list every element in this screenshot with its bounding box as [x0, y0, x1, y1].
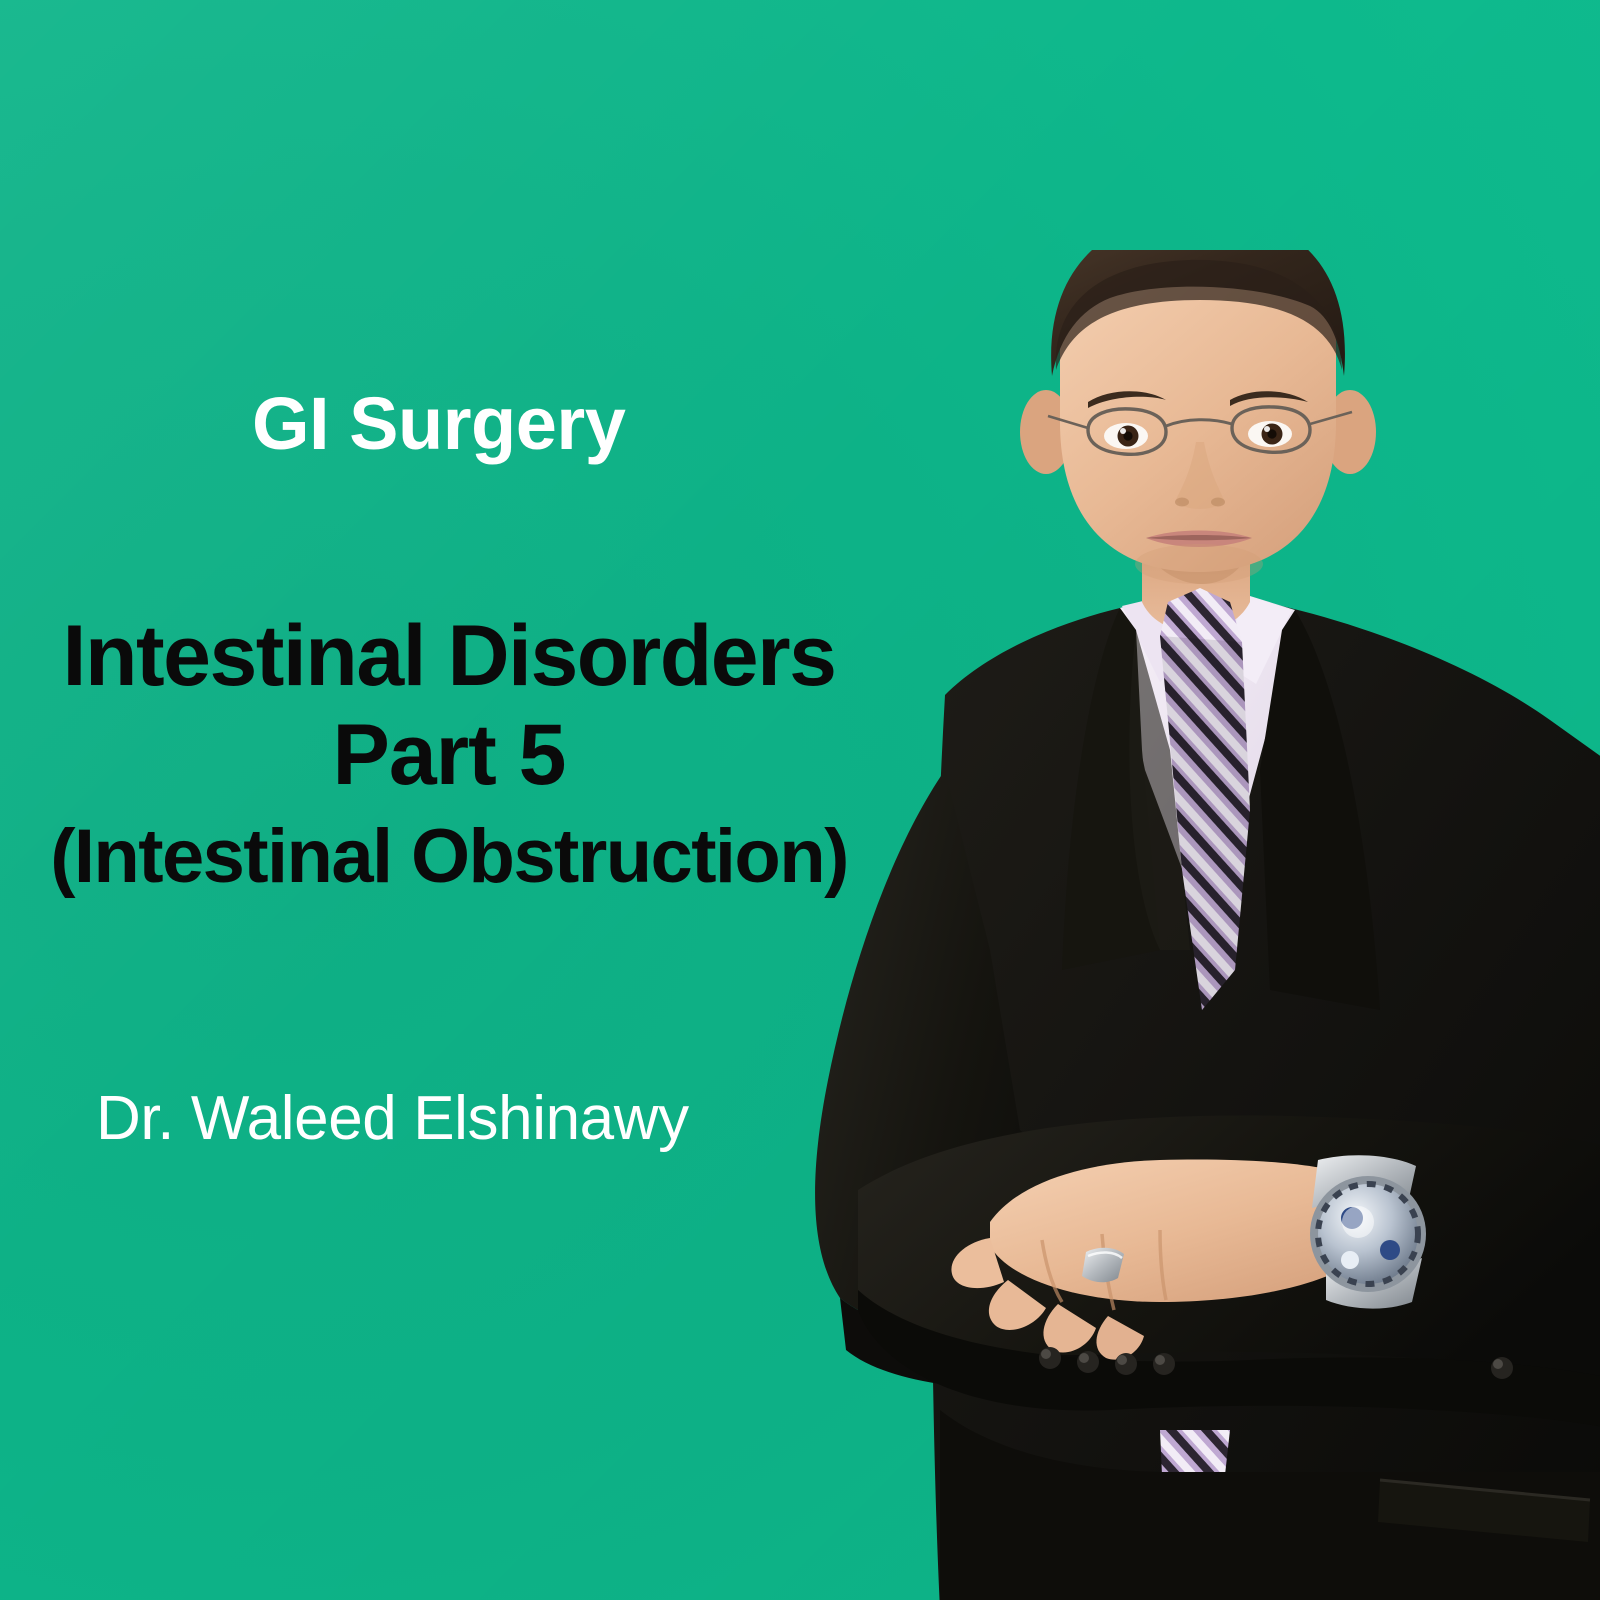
lecture-title-block: Intestinal Disorders Part 5 (Intestinal … — [18, 612, 880, 896]
course-kicker: GI Surgery — [252, 385, 625, 463]
presenter-portrait-photo — [690, 250, 1600, 1600]
title-line-primary: Intestinal Disorders — [18, 612, 880, 701]
title-line-subtopic: (Intestinal Obstruction) — [18, 817, 880, 896]
presenter-name: Dr. Waleed Elshinawy — [96, 1083, 689, 1154]
title-line-part: Part 5 — [18, 711, 880, 800]
lecture-title-poster: GI Surgery Intestinal Disorders Part 5 (… — [0, 0, 1600, 1600]
head — [1020, 250, 1376, 584]
